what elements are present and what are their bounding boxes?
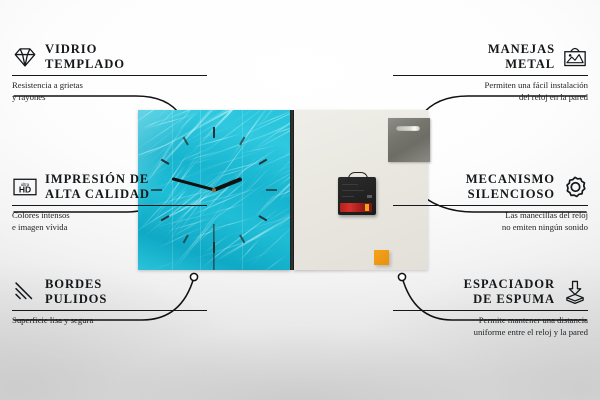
mechanism-detail (342, 190, 364, 191)
feature-desc-line2: del reloj en la pared (393, 92, 588, 103)
feature-title: VIDRIO TEMPLADO (45, 42, 125, 72)
feature-header: ESPACIADOR DE ESPUMA (393, 277, 588, 307)
infographic-canvas: VIDRIO TEMPLADO Resistencia a grietas y … (0, 0, 600, 400)
feature-desc-line2: uniforme entre el reloj y la pared (393, 327, 588, 338)
feature-header: BORDES PULIDOS (12, 277, 207, 307)
feature-desc-line1: Resistencia a grietas (12, 80, 207, 91)
feature-title-line2: DE ESPUMA (464, 292, 555, 307)
feature-title-line2: SILENCIOSO (466, 187, 555, 202)
feature-title-line2: PULIDOS (45, 292, 107, 307)
mechanism-detail (342, 196, 354, 197)
clock-tick (183, 137, 189, 146)
mechanism-loop (348, 172, 368, 182)
clock-tick (183, 235, 189, 244)
quartz-mechanism (338, 177, 376, 215)
feature-desc-line1: Permite mantener una distancia (393, 315, 588, 326)
feature-title-line1: BORDES (45, 277, 107, 292)
feature-divider (12, 205, 207, 206)
feature-description: Colores intensos e imagen vívida (12, 210, 207, 233)
clock-center-pin (212, 188, 216, 192)
hanger-slot (396, 126, 420, 131)
feature-description: Resistencia a grietas y rayones (12, 80, 207, 103)
feature-desc-line2: y rayones (12, 92, 207, 103)
feature-desc-line1: Las manecillas del reloj (393, 210, 588, 221)
feature-title-line1: ESPACIADOR (464, 277, 555, 292)
feature-description: Permite mantener una distancia uniforme … (393, 315, 588, 338)
feature-desc-line2: no emiten ningún sonido (393, 222, 588, 233)
foam-spacer (374, 250, 389, 265)
clock-tick (213, 127, 215, 138)
feature-desc-line2: e imagen vívida (12, 222, 207, 233)
metal-hanger-plate (388, 118, 430, 162)
feature-title-line1: VIDRIO (45, 42, 125, 57)
feature-mecanismo-silencioso: MECANISMO SILENCIOSO Las manecillas del … (393, 172, 588, 233)
feature-desc-line1: Permiten una fácil instalación (393, 80, 588, 91)
feature-impresion-alta-calidad: ultra HD IMPRESIÓN DE ALTA CALIDAD Color… (12, 172, 207, 233)
feature-title-line1: MECANISMO (466, 172, 555, 187)
feature-manejas-metal: MANEJAS METAL Permiten una fácil instala… (393, 42, 588, 103)
feature-desc-line1: Superficie lisa y segura (12, 315, 207, 326)
feature-title-line1: MANEJAS (488, 42, 555, 57)
feature-divider (393, 75, 588, 76)
feature-description: Superficie lisa y segura (12, 315, 207, 326)
clock-tick (239, 235, 245, 244)
feature-header: MANEJAS METAL (393, 42, 588, 72)
feature-description: Las manecillas del reloj no emiten ningú… (393, 210, 588, 233)
mechanism-detail (342, 184, 358, 185)
clock-tick (266, 189, 277, 191)
picture-hanger-icon (562, 44, 588, 70)
mechanism-battery (340, 203, 372, 212)
feature-desc-line1: Colores intensos (12, 210, 207, 221)
feature-espaciador-espuma: ESPACIADOR DE ESPUMA Permite mantener un… (393, 277, 588, 338)
feature-vidrio-templado: VIDRIO TEMPLADO Resistencia a grietas y … (12, 42, 207, 103)
clock-tick (259, 215, 268, 221)
svg-text:HD: HD (19, 185, 31, 195)
feature-header: VIDRIO TEMPLADO (12, 42, 207, 72)
clock-tick (259, 159, 268, 165)
feature-title-line2: ALTA CALIDAD (45, 187, 150, 202)
clock-tick (239, 137, 245, 146)
feature-title-line1: IMPRESIÓN DE (45, 172, 150, 187)
feature-description: Permiten una fácil instalación del reloj… (393, 80, 588, 103)
feature-title-line2: METAL (488, 57, 555, 72)
feature-title: ESPACIADOR DE ESPUMA (464, 277, 555, 307)
feature-title: IMPRESIÓN DE ALTA CALIDAD (45, 172, 150, 202)
ultra-hd-icon: ultra HD (12, 174, 38, 200)
feature-title: BORDES PULIDOS (45, 277, 107, 307)
foam-spacer-icon (562, 279, 588, 305)
feature-title-line2: TEMPLADO (45, 57, 125, 72)
feature-divider (12, 310, 207, 311)
diamond-icon (12, 44, 38, 70)
feature-divider (393, 205, 588, 206)
feature-header: MECANISMO SILENCIOSO (393, 172, 588, 202)
feature-title: MECANISMO SILENCIOSO (466, 172, 555, 202)
battery-terminal (365, 204, 369, 211)
gear-icon (562, 174, 588, 200)
polished-edges-icon (12, 279, 38, 305)
mechanism-detail (367, 195, 372, 198)
feature-divider (393, 310, 588, 311)
clock-tick (161, 159, 170, 165)
feature-title: MANEJAS METAL (488, 42, 555, 72)
feature-bordes-pulidos: BORDES PULIDOS Superficie lisa y segura (12, 277, 207, 327)
feature-divider (12, 75, 207, 76)
feature-header: ultra HD IMPRESIÓN DE ALTA CALIDAD (12, 172, 207, 202)
